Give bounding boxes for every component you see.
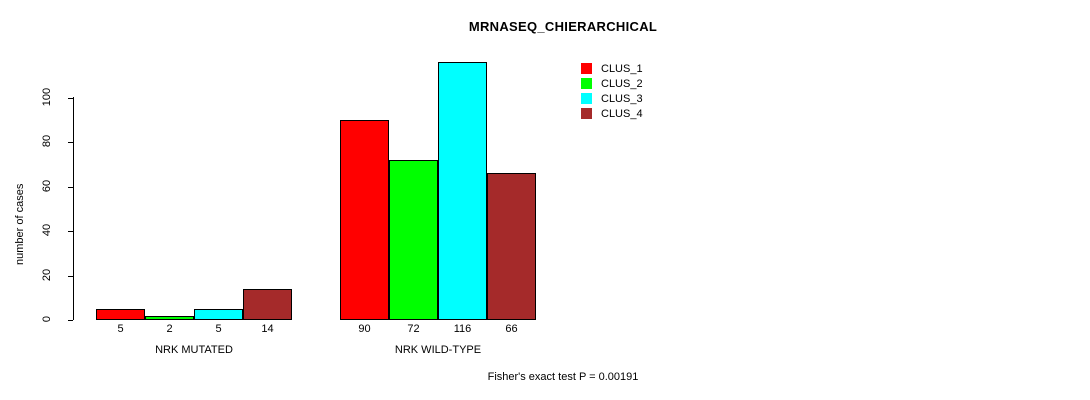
x-axis-group-label: NRK WILD-TYPE (340, 344, 536, 356)
x-axis-group-label: NRK MUTATED (96, 344, 292, 356)
legend-item: CLUS_1 (581, 61, 643, 76)
bar (438, 62, 487, 320)
y-axis-tick-label: 100 (41, 82, 53, 112)
bar (145, 316, 194, 320)
y-axis-tick-label: 60 (41, 171, 53, 201)
legend: CLUS_1CLUS_2CLUS_3CLUS_4 (581, 61, 643, 121)
statistic-annotation-text: Fisher's exact test P = 0.00191 (488, 371, 639, 383)
statistic-annotation: Fisher's exact test P = 0.00191 (0, 371, 1090, 383)
y-axis-line (73, 97, 74, 320)
bar-value-label: 14 (243, 323, 292, 335)
bar-value-label: 5 (96, 323, 145, 335)
y-axis-tick-label: 40 (41, 215, 53, 245)
bar (243, 289, 292, 320)
y-axis-tick (68, 276, 73, 277)
bar (96, 309, 145, 320)
legend-item: CLUS_2 (581, 76, 643, 91)
y-axis-tick (68, 142, 73, 143)
bar (194, 309, 243, 320)
legend-swatch (581, 108, 592, 119)
y-axis-tick (68, 187, 73, 188)
y-axis-tick-label: 0 (41, 304, 53, 334)
legend-label: CLUS_2 (601, 78, 643, 90)
y-axis-tick (68, 320, 73, 321)
chart-title-text: MRNASEQ_CHIERARCHICAL (469, 19, 657, 34)
bar (389, 160, 438, 320)
legend-label: CLUS_4 (601, 108, 643, 120)
legend-label: CLUS_1 (601, 63, 643, 75)
legend-item: CLUS_3 (581, 91, 643, 106)
bar-value-label: 2 (145, 323, 194, 335)
chart-canvas: MRNASEQ_CHIERARCHICAL number of cases 02… (0, 0, 1090, 400)
bar (340, 120, 389, 320)
bar (487, 173, 536, 320)
y-axis-tick (68, 231, 73, 232)
legend-swatch (581, 63, 592, 74)
bar-value-label: 116 (438, 323, 487, 335)
legend-swatch (581, 93, 592, 104)
bar-value-label: 72 (389, 323, 438, 335)
y-axis-title: number of cases (14, 184, 26, 265)
bar-value-label: 90 (340, 323, 389, 335)
bar-value-label: 66 (487, 323, 536, 335)
legend-swatch (581, 78, 592, 89)
legend-item: CLUS_4 (581, 106, 643, 121)
y-axis-tick-label: 20 (41, 260, 53, 290)
legend-label: CLUS_3 (601, 93, 643, 105)
y-axis-tick-label: 80 (41, 126, 53, 156)
bar-value-label: 5 (194, 323, 243, 335)
chart-title: MRNASEQ_CHIERARCHICAL (0, 19, 1090, 34)
y-axis-tick (68, 98, 73, 99)
